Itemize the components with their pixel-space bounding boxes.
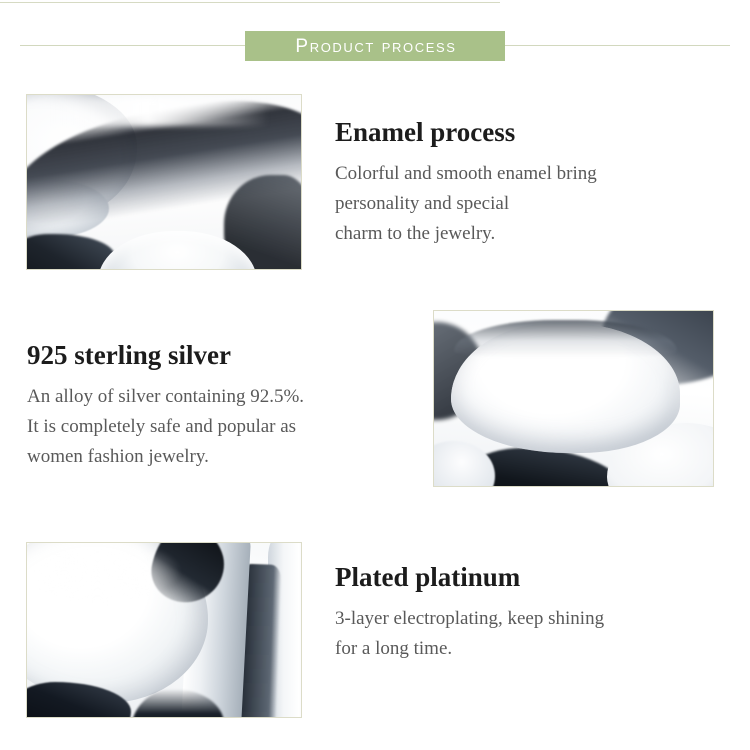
top-divider [0, 2, 500, 3]
text-block-plated-platinum: Plated platinum 3-layer electroplating, … [335, 563, 604, 664]
header-rule-right [504, 45, 730, 46]
section-header: Product process [0, 24, 750, 68]
section-title-sterling-silver: 925 sterling silver [27, 341, 304, 371]
photo-silver-canvas [434, 311, 713, 486]
section-body-sterling-silver: An alloy of silver containing 92.5%. It … [27, 382, 304, 472]
section-body-enamel: Colorful and smooth enamel bring persona… [335, 159, 597, 249]
body-line: for a long time. [335, 634, 604, 664]
photo-platinum-canvas [27, 543, 301, 717]
body-line: Colorful and smooth enamel bring [335, 159, 597, 189]
text-block-enamel: Enamel process Colorful and smooth ename… [335, 118, 597, 249]
product-photo-enamel [26, 94, 302, 270]
section-title-plated-platinum: Plated platinum [335, 563, 604, 593]
product-photo-sterling-silver [433, 310, 714, 487]
body-line: An alloy of silver containing 92.5%. [27, 382, 304, 412]
body-line: women fashion jewelry. [27, 442, 304, 472]
section-title-enamel: Enamel process [335, 118, 597, 148]
body-line: 3-layer electroplating, keep shining [335, 604, 604, 634]
page-title: Product process [293, 37, 456, 56]
header-rule-left [20, 45, 248, 46]
header-banner: Product process [245, 31, 505, 61]
photo-enamel-canvas [27, 95, 301, 269]
text-block-sterling-silver: 925 sterling silver An alloy of silver c… [27, 341, 304, 472]
section-body-plated-platinum: 3-layer electroplating, keep shining for… [335, 604, 604, 664]
body-line: personality and special [335, 189, 597, 219]
photo-enamel-gloss [49, 98, 268, 126]
photo-platinum-gloss [38, 550, 180, 602]
product-photo-plated-platinum [26, 542, 302, 718]
body-line: It is completely safe and popular as [27, 412, 304, 442]
body-line: charm to the jewelry. [335, 219, 597, 249]
